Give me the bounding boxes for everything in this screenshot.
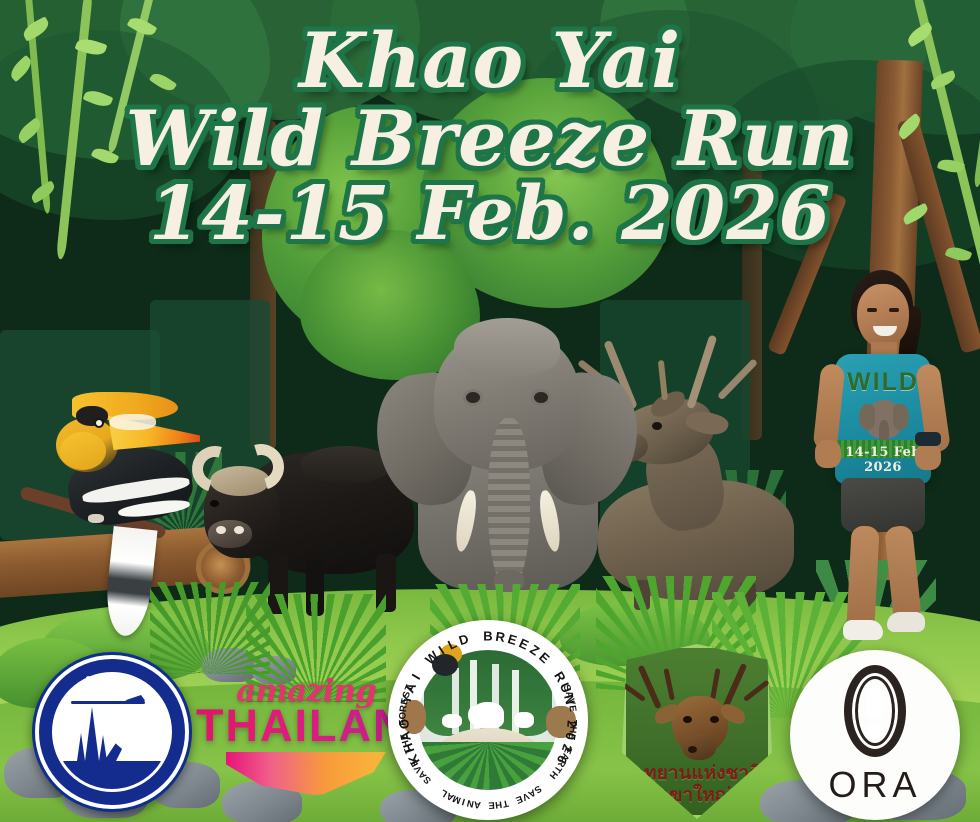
tat-arc-text: TOURISM AUTHORITY OF THAILAND	[35, 655, 189, 809]
ora-logo: ORA	[790, 650, 960, 820]
park-thai-line-2: เขาใหญ่	[626, 780, 768, 810]
event-badge-logo: KHAO YAI WILD BREEZE RUN 2026 SAVE THE E…	[388, 620, 588, 820]
amazing-thailand-logo: amazing THAILAND	[196, 676, 396, 796]
asian-elephant-illustration	[382, 300, 632, 590]
badge-bottom-arc-text: SAVE THE EARTH SAVE THE ANIMAL SAVE THE …	[388, 620, 588, 820]
ora-mark-icon	[844, 665, 906, 757]
gaur-illustration	[190, 404, 405, 614]
event-poster: WILD 14-15 Feb 2026	[0, 0, 980, 822]
runner-photo: WILD 14-15 Feb 2026	[815, 268, 945, 668]
ora-wordmark: ORA	[828, 764, 921, 806]
amazing-thailand-text: THAILAND	[196, 703, 396, 748]
khao-yai-national-park-logo: อุทยานแห่งชาติ เขาใหญ่	[622, 644, 772, 819]
tourism-authority-of-thailand-logo: ททท TOURISM AUTHORITY OF THAILAND TOURIS…	[32, 652, 192, 812]
amazing-swoosh	[226, 752, 386, 796]
great-hornbill-illustration	[30, 378, 210, 628]
